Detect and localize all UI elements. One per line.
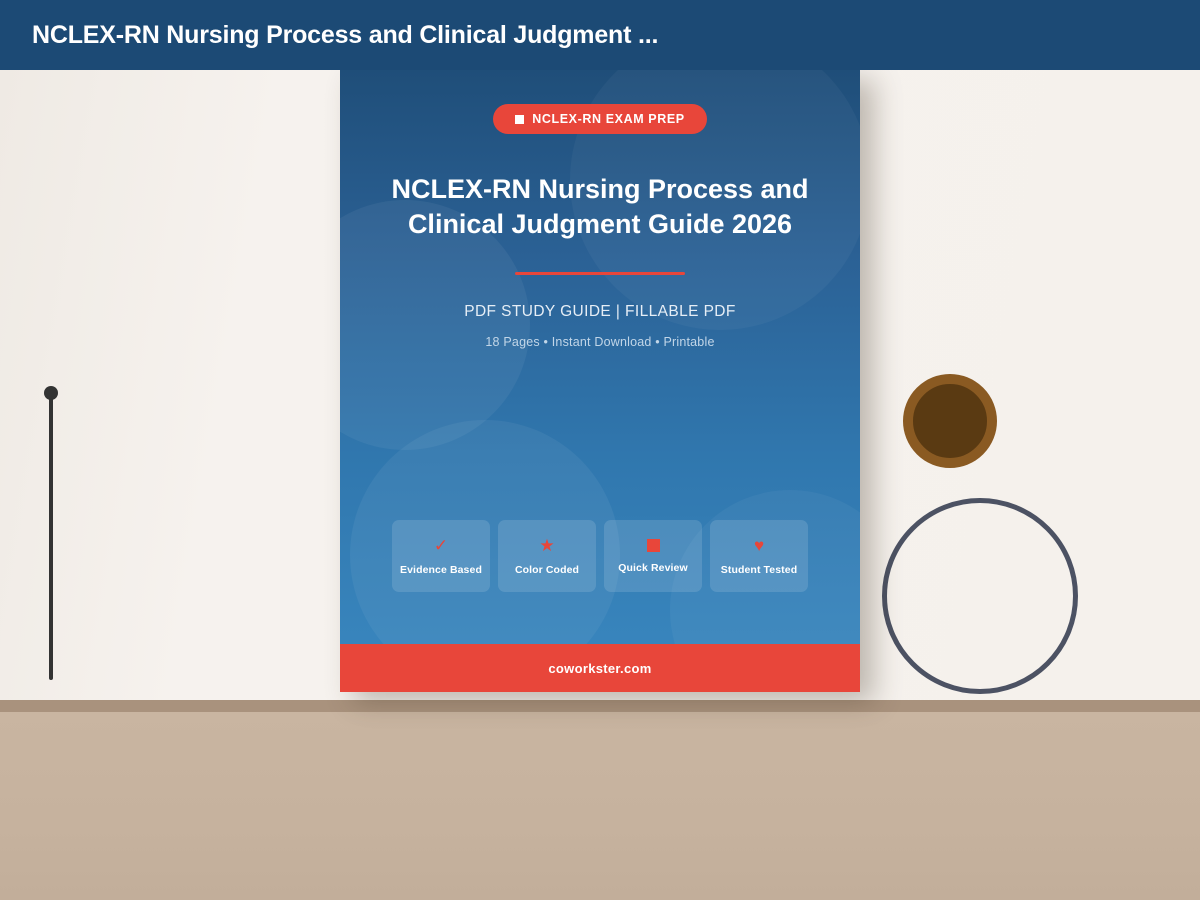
square-icon bbox=[647, 539, 660, 552]
feature-card: ✓ Evidence Based bbox=[392, 520, 490, 592]
app-header: NCLEX-RN Nursing Process and Clinical Ju… bbox=[0, 0, 1200, 70]
check-icon: ✓ bbox=[434, 537, 448, 554]
feature-card: ★ Color Coded bbox=[498, 520, 596, 592]
circle-ring-decoration bbox=[882, 498, 1078, 694]
feature-label: Student Tested bbox=[721, 564, 797, 576]
feature-label: Evidence Based bbox=[400, 564, 482, 576]
feature-card: ♥ Student Tested bbox=[710, 520, 808, 592]
feature-card: Quick Review bbox=[604, 520, 702, 592]
square-icon bbox=[515, 115, 524, 124]
poster-document[interactable]: NCLEX-RN EXAM PREP NCLEX-RN Nursing Proc… bbox=[340, 70, 860, 692]
screenshot-root: NCLEX-RN Nursing Process and Clinical Ju… bbox=[0, 0, 1200, 900]
poster-format-line: PDF STUDY GUIDE | FILLABLE PDF bbox=[464, 303, 736, 321]
title-divider bbox=[515, 272, 685, 275]
desk-surface bbox=[0, 712, 1200, 900]
star-icon: ★ bbox=[539, 537, 554, 554]
poster-title: NCLEX-RN Nursing Process and Clinical Ju… bbox=[385, 172, 815, 242]
page-title: NCLEX-RN Nursing Process and Clinical Ju… bbox=[32, 21, 658, 50]
feature-label: Color Coded bbox=[515, 564, 579, 576]
desk-edge bbox=[0, 700, 1200, 712]
heart-icon: ♥ bbox=[754, 537, 764, 554]
scene: NCLEX-RN EXAM PREP NCLEX-RN Nursing Proc… bbox=[0, 70, 1200, 900]
poster-content: NCLEX-RN EXAM PREP NCLEX-RN Nursing Proc… bbox=[340, 70, 860, 692]
coffee-cup-icon bbox=[903, 374, 997, 468]
badge-label: NCLEX-RN EXAM PREP bbox=[532, 112, 684, 126]
feature-card-list: ✓ Evidence Based ★ Color Coded Quick Rev… bbox=[340, 520, 860, 592]
exam-prep-badge: NCLEX-RN EXAM PREP bbox=[493, 104, 706, 134]
pen-knob-icon bbox=[44, 386, 58, 400]
poster-meta-line: 18 Pages • Instant Download • Printable bbox=[485, 335, 714, 349]
feature-label: Quick Review bbox=[618, 562, 687, 574]
pen-icon bbox=[49, 390, 53, 680]
